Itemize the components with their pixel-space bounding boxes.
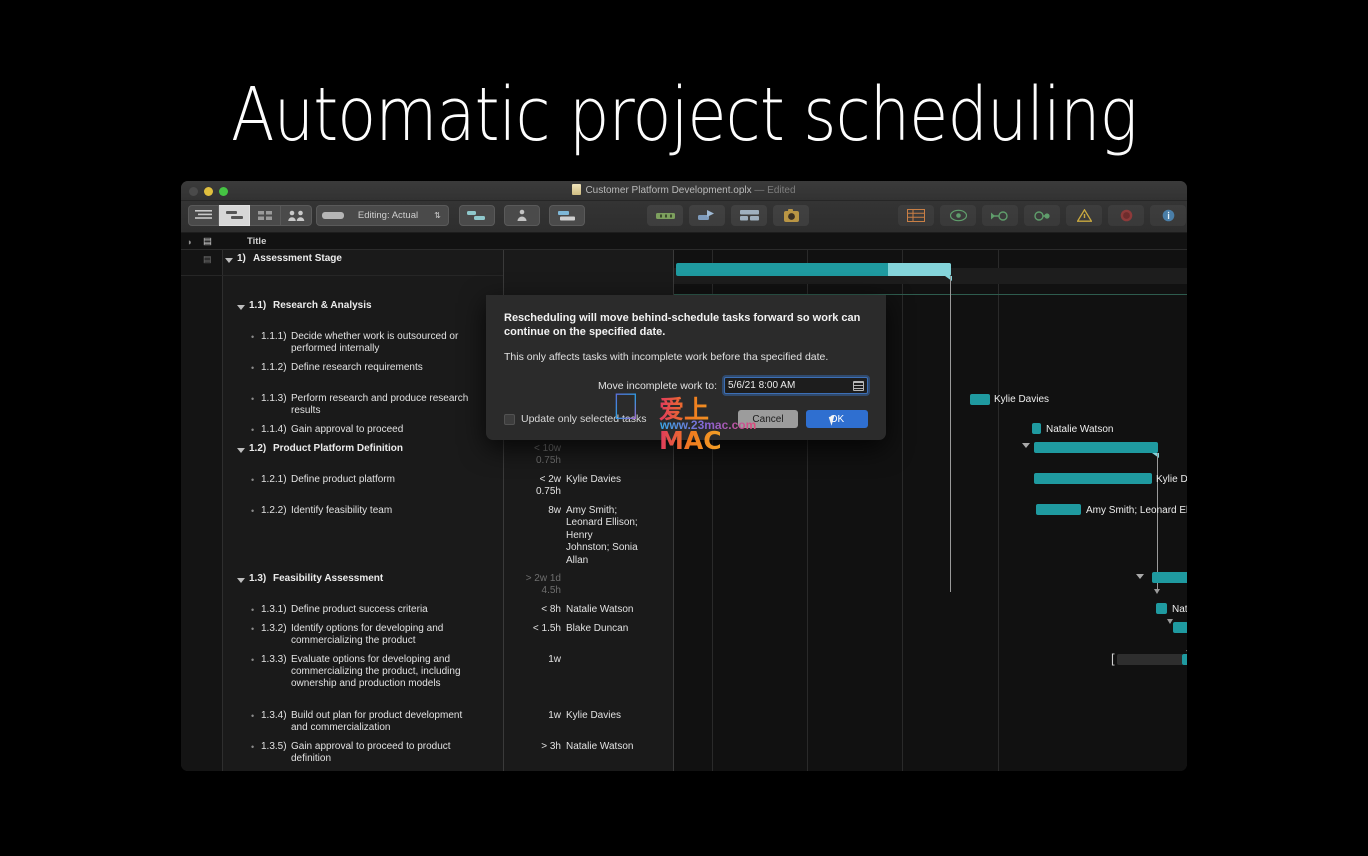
resource-view-button[interactable] <box>281 205 312 226</box>
task-outline-pane[interactable]: ▤ 1) Assessment Stage 1.1) Research & An… <box>181 250 504 771</box>
gantt-bar-label: Natalie Watson <box>1046 424 1113 435</box>
outline-view-button[interactable] <box>188 205 219 226</box>
gantt-bar-remaining <box>888 263 951 276</box>
task-resources: Natalie Watson <box>566 604 633 616</box>
task-resources: Kylie Davies <box>566 474 621 486</box>
task-id: 1.1.4) <box>261 424 287 436</box>
assign-resource-button[interactable] <box>504 205 540 226</box>
resource-load-button[interactable] <box>1024 205 1060 226</box>
gantt-bar-label: Natalie Watson <box>1172 604 1187 615</box>
task-name: Product Platform Definition <box>273 443 403 455</box>
table-icon <box>907 209 925 222</box>
gantt-bar-summary-1-2[interactable] <box>1034 442 1158 453</box>
indent-icon <box>467 210 487 221</box>
task-duration: 1w <box>548 654 561 665</box>
people-icon <box>287 210 306 222</box>
bullet-icon: • <box>251 655 254 665</box>
dialog-body: This only affects tasks with incomplete … <box>504 351 868 363</box>
document-title-text: Customer Platform Development.oplx <box>585 185 751 196</box>
gantt-bar-label: Kylie Davies <box>1156 474 1187 485</box>
dependency-button[interactable] <box>982 205 1018 226</box>
calendar-icon[interactable] <box>853 381 864 391</box>
catchup-icon <box>656 211 675 221</box>
task-id: 1.1) <box>249 300 266 312</box>
task-id: 1.3.2) <box>261 623 287 635</box>
bullet-icon: • <box>251 363 254 373</box>
level-icon <box>740 210 759 221</box>
app-window: Customer Platform Development.oplx — Edi… <box>181 181 1187 771</box>
dependency-arrow <box>1154 589 1160 594</box>
disclosure-triangle[interactable] <box>237 578 245 583</box>
gantt-bar-1-1-3[interactable] <box>970 394 990 405</box>
task-duration: < 10w <box>534 443 561 454</box>
bullet-icon: • <box>251 711 254 721</box>
apple-logo-icon:  <box>612 388 640 425</box>
gantt-bar-1-2-1[interactable] <box>1034 473 1152 484</box>
column-header-title: Title <box>247 236 266 247</box>
gantt-bar-summary-1[interactable] <box>676 263 951 276</box>
task-id: 1.1.2) <box>261 362 287 374</box>
task-name: Perform research and produce research re… <box>291 393 473 417</box>
gantt-slack-bar <box>1117 654 1183 665</box>
task-id: 1.3.4) <box>261 710 287 722</box>
outline-gutter <box>181 250 223 771</box>
view-switcher <box>188 205 312 226</box>
task-info-button[interactable] <box>549 205 585 226</box>
info-circle-icon <box>1162 209 1175 222</box>
move-date-value: 5/6/21 8:00 AM <box>728 380 853 391</box>
task-id: 1.2.1) <box>261 474 287 486</box>
gantt-bar-1-1-4[interactable] <box>1032 423 1041 434</box>
task-duration: < 8h <box>541 604 561 615</box>
reschedule-icon <box>698 210 717 222</box>
lead-bracket-icon: [ <box>1111 653 1116 664</box>
status-tools-group <box>898 205 1187 226</box>
warnings-button[interactable] <box>1066 205 1102 226</box>
dependency-line <box>950 276 951 592</box>
network-view-button[interactable] <box>250 205 281 226</box>
document-content: ▤ 1) Assessment Stage 1.1) Research & An… <box>181 250 1187 771</box>
task-name: Define product success criteria <box>291 604 473 616</box>
task-name: Feasibility Assessment <box>273 573 383 585</box>
task-duration-secondary: 0.75h <box>536 486 561 497</box>
stop-circle-icon <box>1120 209 1133 222</box>
task-duration: 8w <box>548 505 561 516</box>
eye-icon <box>950 209 967 222</box>
task-name: Research & Analysis <box>273 300 372 312</box>
network-icon <box>257 210 274 221</box>
task-duration: < 1.5h <box>533 623 561 634</box>
task-resources: Blake Duncan <box>566 623 628 635</box>
note-column-icon: ▤ <box>203 236 212 247</box>
task-name: Gain approval to proceed to product defi… <box>291 741 473 765</box>
person-icon <box>516 209 528 222</box>
violations-button[interactable] <box>940 205 976 226</box>
gantt-bar-1-3-1[interactable] <box>1156 603 1167 614</box>
task-id: 1.3.1) <box>261 604 287 616</box>
dependency-icon <box>991 210 1009 222</box>
constraint-column-icon: ◗ <box>187 237 192 247</box>
editing-pill-icon <box>322 212 344 219</box>
task-name: Assessment Stage <box>253 253 342 265</box>
document-icon <box>572 184 581 195</box>
gantt-bar-1-3-2[interactable] <box>1173 622 1187 633</box>
chevron-updown-icon: ⇅ <box>432 212 443 220</box>
slide-headline: Automatic project scheduling <box>96 72 1272 158</box>
gantt-bar-label: Kylie Davies <box>994 394 1049 405</box>
catch-up-button[interactable] <box>647 205 683 226</box>
task-id: 1.3) <box>249 573 266 585</box>
task-id: 1) <box>237 253 246 265</box>
task-id: 1.3.3) <box>261 654 287 666</box>
camera-icon <box>784 209 799 222</box>
gantt-bar-label: Amy Smith; Leonard Ellison; Henry Johnst… <box>1086 505 1187 516</box>
errors-button[interactable] <box>1108 205 1144 226</box>
task-name: Build out plan for product development a… <box>291 710 473 734</box>
task-name: Identify options for developing and comm… <box>291 623 473 647</box>
gantt-bar-1-3-3[interactable] <box>1182 654 1187 665</box>
bullet-icon: • <box>251 742 254 752</box>
task-duration: > 2w 1d <box>526 573 561 584</box>
loop-icon <box>1033 210 1051 222</box>
inspector-icon <box>557 210 577 222</box>
reschedule-button[interactable] <box>689 205 725 226</box>
outline-icon <box>195 210 212 221</box>
disclosure-triangle[interactable] <box>237 305 245 310</box>
bullet-icon: • <box>251 506 254 516</box>
task-tools-group <box>459 205 594 226</box>
bullet-icon: • <box>251 332 254 342</box>
document-title: Customer Platform Development.oplx — Edi… <box>181 184 1187 196</box>
task-name: Evaluate options for developing and comm… <box>291 654 473 690</box>
info-button[interactable] <box>1150 205 1186 226</box>
task-id: 1.1.1) <box>261 331 287 343</box>
change-calendar-button[interactable] <box>773 205 809 226</box>
task-name: Define product platform <box>291 474 473 486</box>
disclosure-triangle[interactable] <box>225 258 233 263</box>
task-table-button[interactable] <box>898 205 934 226</box>
schedule-tools-group <box>647 205 815 226</box>
editing-mode-group: Editing: Actual ⇅ <box>316 205 449 226</box>
task-name: Decide whether work is outsourced or per… <box>291 331 473 355</box>
task-name: Identify feasibility team <box>291 505 473 517</box>
bullet-icon: • <box>251 425 254 435</box>
task-id: 1.2) <box>249 443 266 455</box>
gantt-icon <box>225 210 244 221</box>
task-id: 1.1.3) <box>261 393 287 405</box>
editing-mode-popup[interactable]: Editing: Actual ⇅ <box>316 205 449 226</box>
bullet-icon: • <box>251 394 254 404</box>
disclosure-triangle[interactable] <box>1136 574 1144 579</box>
task-duration: > 3h <box>541 741 561 752</box>
window-titlebar: Customer Platform Development.oplx — Edi… <box>181 181 1187 201</box>
disclosure-triangle[interactable] <box>1022 443 1030 448</box>
task-name: Gain approval to proceed <box>291 424 473 436</box>
task-resources: Natalie Watson <box>566 741 633 753</box>
column-header-row: ◗ ▤ Title <box>181 233 1187 250</box>
gantt-bar-1-2-2[interactable] <box>1036 504 1081 515</box>
task-resources: Kylie Davies <box>566 710 621 722</box>
document-edited-state: — Edited <box>754 185 795 196</box>
dialog-heading: Rescheduling will move behind-schedule t… <box>504 311 868 339</box>
watermark-url: www.23mac.com <box>660 418 756 432</box>
app-toolbar: Editing: Actual ⇅ <box>181 201 1187 233</box>
editing-mode-label: Editing: Actual <box>344 210 432 221</box>
disclosure-triangle[interactable] <box>237 448 245 453</box>
task-id: 1.2.2) <box>261 505 287 517</box>
bullet-icon: • <box>251 624 254 634</box>
ok-button[interactable]: OK <box>806 410 868 428</box>
gantt-view-button[interactable] <box>219 205 250 226</box>
level-resources-button[interactable] <box>731 205 767 226</box>
task-duration-secondary: 4.5h <box>542 585 561 596</box>
task-name: Define research requirements <box>291 362 473 374</box>
task-duration: 1w <box>548 710 561 721</box>
indent-task-button[interactable] <box>459 205 495 226</box>
bullet-icon: • <box>251 605 254 615</box>
task-resources: Amy Smith; Leonard Ellison; Henry Johnst… <box>566 505 638 567</box>
task-id: 1.3.5) <box>261 741 287 753</box>
slide-canvas: Automatic project scheduling Customer Pl… <box>0 0 1368 856</box>
move-date-input[interactable]: 5/6/21 8:00 AM <box>724 377 868 394</box>
update-selected-checkbox[interactable] <box>504 414 515 425</box>
task-duration-secondary: 0.75h <box>536 455 561 466</box>
warning-triangle-icon <box>1077 209 1092 222</box>
gantt-bar-summary-1-3[interactable] <box>1152 572 1187 583</box>
bullet-icon: • <box>251 475 254 485</box>
note-badge: ▤ <box>203 254 212 265</box>
task-duration: < 2w <box>540 474 561 485</box>
